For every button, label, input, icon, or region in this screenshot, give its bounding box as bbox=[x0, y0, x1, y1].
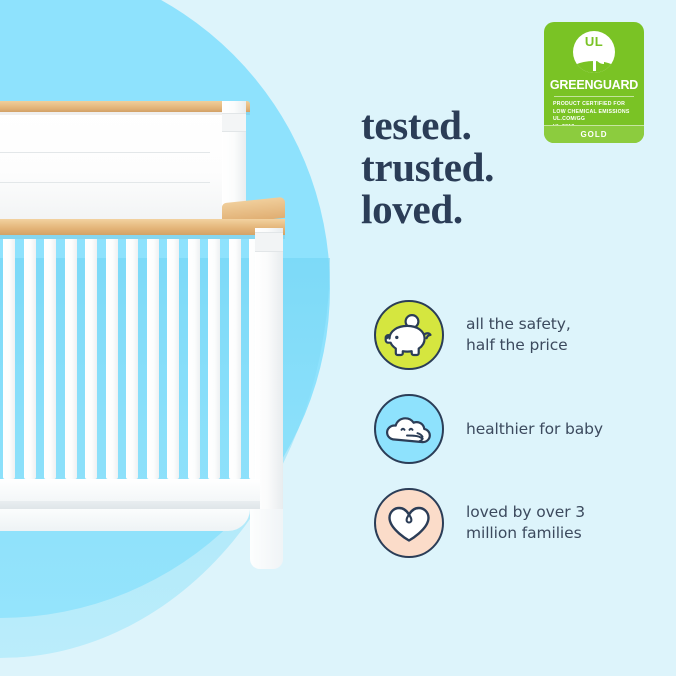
crib-slat bbox=[44, 239, 56, 479]
blowing-cloud-glyph bbox=[376, 396, 442, 462]
ul-seal-icon: UL bbox=[573, 31, 615, 73]
headline-line-3: loved. bbox=[361, 188, 494, 230]
crib-slat bbox=[3, 239, 15, 479]
crib-slats bbox=[0, 239, 260, 479]
greenguard-line-1: PRODUCT CERTIFIED FOR bbox=[553, 101, 635, 109]
crib-apron bbox=[0, 509, 250, 531]
feature-label-line-1: all the safety, bbox=[466, 314, 571, 335]
crib-slat bbox=[65, 239, 77, 479]
ul-seal-text: UL bbox=[573, 35, 615, 48]
feature-label-line-2: half the price bbox=[466, 335, 571, 356]
crib-post-notch-lower bbox=[255, 232, 283, 252]
list-item: all the safety, half the price bbox=[374, 288, 674, 382]
feature-label-line-1: healthier for baby bbox=[466, 419, 603, 440]
crib-base-shadow bbox=[0, 501, 260, 509]
crib-leg bbox=[250, 509, 283, 569]
crib-slat bbox=[85, 239, 97, 479]
feature-list: all the safety, half the price bbox=[374, 288, 674, 570]
crib-headboard-panel bbox=[0, 110, 230, 222]
crib-base-rail bbox=[0, 479, 260, 501]
crib-slat bbox=[188, 239, 200, 479]
greenguard-title: GREENGUARD bbox=[544, 78, 644, 92]
headline-line-2: trusted. bbox=[361, 146, 494, 188]
crib-slat bbox=[147, 239, 159, 479]
headline-line-1: tested. bbox=[361, 104, 494, 146]
feature-label: all the safety, half the price bbox=[466, 314, 571, 356]
content-pane: UL GREENGUARD PRODUCT CERTIFIED FOR LOW … bbox=[356, 0, 676, 676]
heart-glyph bbox=[376, 490, 442, 556]
greenguard-line-3: UL.COM/GG bbox=[553, 116, 635, 124]
feature-label-line-2: million families bbox=[466, 523, 585, 544]
crib-slat bbox=[106, 239, 118, 479]
crib-slat bbox=[208, 239, 220, 479]
feature-label: healthier for baby bbox=[466, 419, 603, 440]
piggy-bank-glyph bbox=[376, 302, 442, 368]
heart-icon bbox=[374, 488, 444, 558]
greenguard-divider bbox=[554, 96, 634, 97]
crib-slat bbox=[126, 239, 138, 479]
piggy-bank-icon bbox=[374, 300, 444, 370]
greenguard-badge: UL GREENGUARD PRODUCT CERTIFIED FOR LOW … bbox=[544, 22, 644, 143]
panel-groove-2 bbox=[0, 182, 210, 183]
crib-post-notch-upper bbox=[222, 113, 246, 132]
greenguard-line-2: LOW CHEMICAL EMISSIONS bbox=[553, 109, 635, 117]
crib-front-wood-rail bbox=[0, 219, 285, 235]
greenguard-gold-band: GOLD bbox=[544, 125, 644, 143]
panel-groove-1 bbox=[0, 152, 210, 153]
headboard-shadow bbox=[0, 112, 250, 115]
crib-headboard-wood-rail bbox=[0, 101, 250, 112]
blowing-cloud-icon bbox=[374, 394, 444, 464]
feature-label: loved by over 3 million families bbox=[466, 502, 585, 544]
list-item: loved by over 3 million families bbox=[374, 476, 674, 570]
crib-illustration bbox=[0, 0, 345, 676]
page-title: tested. trusted. loved. bbox=[361, 104, 494, 230]
crib-slat bbox=[229, 239, 241, 479]
feature-label-line-1: loved by over 3 bbox=[466, 502, 585, 523]
crib-slat bbox=[24, 239, 36, 479]
greenguard-level: GOLD bbox=[544, 126, 644, 143]
promo-graphic: UL GREENGUARD PRODUCT CERTIFIED FOR LOW … bbox=[0, 0, 676, 676]
crib-slat bbox=[167, 239, 179, 479]
product-photo bbox=[0, 0, 345, 676]
list-item: healthier for baby bbox=[374, 382, 674, 476]
